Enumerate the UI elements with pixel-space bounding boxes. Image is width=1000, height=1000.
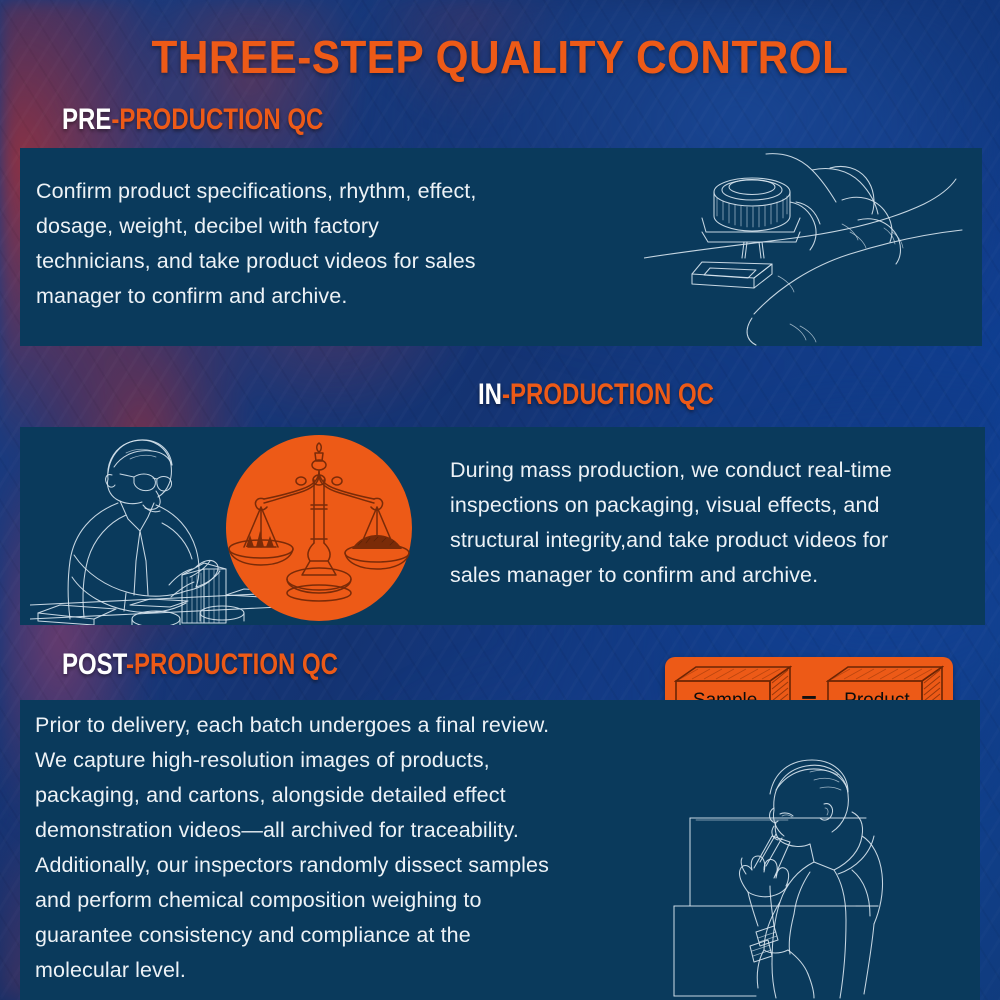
body-text-in-production: During mass production, we conduct real-…: [450, 453, 985, 593]
section-heading-post-production: POST-PRODUCTION QC: [62, 648, 338, 682]
section-heading-post-white: POST: [62, 648, 126, 681]
inspector-with-clipboard-icon: [638, 750, 968, 1000]
scale-badge-circle: [226, 435, 412, 621]
section-heading-in-orange: -PRODUCTION QC: [502, 378, 714, 411]
panel-in-production: During mass production, we conduct real-…: [20, 427, 985, 625]
body-text-post-production: Prior to delivery, each batch undergoes …: [35, 708, 675, 988]
panel-pre-production: Confirm product specifications, rhythm, …: [20, 148, 982, 346]
section-heading-pre-white: PRE: [62, 103, 111, 136]
panel-post-production: Prior to delivery, each batch undergoes …: [20, 700, 980, 1000]
hand-holding-device-icon: [644, 148, 974, 346]
section-heading-pre-orange: -PRODUCTION QC: [111, 103, 323, 136]
section-heading-in-white: IN: [478, 378, 502, 411]
section-heading-post-orange: -PRODUCTION QC: [126, 648, 338, 681]
balance-scale-icon: [226, 435, 412, 621]
section-heading-in-production: IN-PRODUCTION QC: [478, 378, 714, 412]
section-heading-pre-production: PRE-PRODUCTION QC: [62, 103, 323, 137]
body-text-pre-production: Confirm product specifications, rhythm, …: [36, 174, 636, 314]
page-title: THREE-STEP QUALITY CONTROL: [40, 30, 960, 84]
